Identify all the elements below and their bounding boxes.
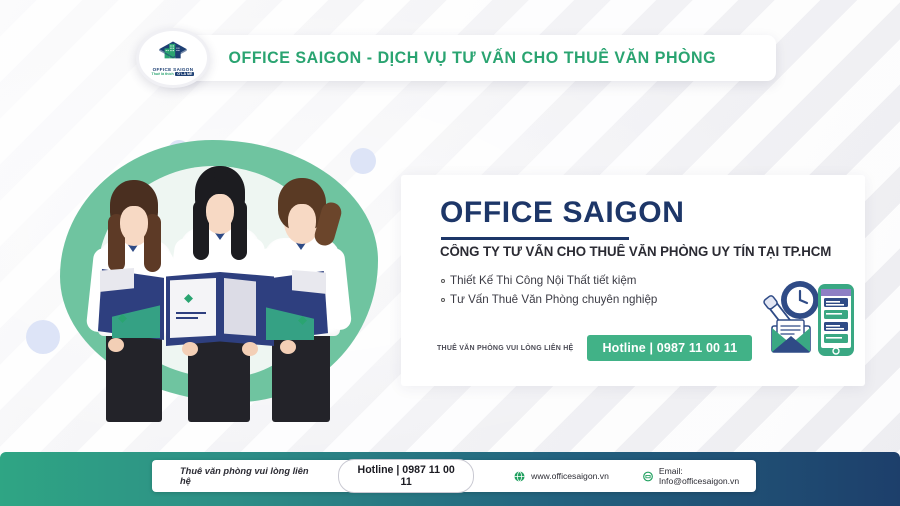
footer-email-label: Email: Info@officesaigon.vn — [659, 466, 756, 486]
footer-website-label: www.officesaigon.vn — [531, 471, 609, 481]
footer-hotline-button[interactable]: Hotline | 0987 11 00 11 — [338, 459, 474, 493]
footer-note: Thuê văn phòng vui lòng liên hệ — [180, 466, 310, 486]
globe-icon — [514, 471, 525, 482]
hero-photo — [20, 118, 420, 428]
info-card: OFFICE SAIGON CÔNG TY TƯ VẤN CHO THUÊ VĂ… — [401, 175, 865, 386]
list-item: Thiết Kế Thi Công Nội Thất tiết kiệm — [441, 271, 657, 290]
cta-row: THUÊ VĂN PHÒNG VUI LÒNG LIÊN HỆ Hotline … — [437, 335, 752, 361]
cta-label: THUÊ VĂN PHÒNG VUI LÒNG LIÊN HỆ — [437, 345, 573, 352]
contact-support-illustration — [756, 270, 861, 362]
logo-tagline-left: Thuê là thích — [152, 72, 174, 76]
logo-brand-name: OFFICE SAIGON — [153, 67, 194, 72]
list-item: Tư Vấn Thuê Văn Phòng chuyên nghiệp — [441, 290, 657, 309]
logo-tagline-right: Ở LÀ MÊ — [175, 72, 194, 76]
header-bar: OFFICE SAIGON - DỊCH VỤ TƯ VẤN CHO THUÊ … — [168, 35, 776, 81]
building-icon — [156, 40, 190, 66]
logo-tagline: Thuê là thích Ở LÀ MÊ — [152, 72, 195, 76]
brand-heading: OFFICE SAIGON — [440, 196, 684, 230]
decor-circle — [26, 320, 60, 354]
person-right — [246, 160, 362, 422]
brand-underline — [441, 237, 629, 240]
list-item-label: Thiết Kế Thi Công Nội Thất tiết kiệm — [450, 271, 636, 290]
hotline-button[interactable]: Hotline | 0987 11 00 11 — [587, 335, 752, 361]
footer-email[interactable]: Email: Info@officesaigon.vn — [643, 466, 756, 486]
footer-contact-pill: Thuê văn phòng vui lòng liên hệ Hotline … — [152, 460, 756, 492]
bullet-circle-icon — [441, 298, 445, 302]
brand-subtitle: CÔNG TY TƯ VẤN CHO THUÊ VĂN PHÒNG UY TÍN… — [440, 244, 831, 259]
footer-website[interactable]: www.officesaigon.vn — [514, 471, 609, 482]
brand-logo-badge[interactable]: OFFICE SAIGON Thuê là thích Ở LÀ MÊ — [136, 28, 210, 88]
page-title: OFFICE SAIGON - DỊCH VỤ TƯ VẤN CHO THUÊ … — [228, 49, 716, 68]
footer-bar: Thuê văn phòng vui lòng liên hệ Hotline … — [0, 452, 900, 506]
feature-list: Thiết Kế Thi Công Nội Thất tiết kiệm Tư … — [441, 271, 657, 309]
list-item-label: Tư Vấn Thuê Văn Phòng chuyên nghiệp — [450, 290, 657, 309]
bullet-circle-icon — [441, 279, 445, 283]
envelope-circle-icon — [643, 471, 653, 482]
